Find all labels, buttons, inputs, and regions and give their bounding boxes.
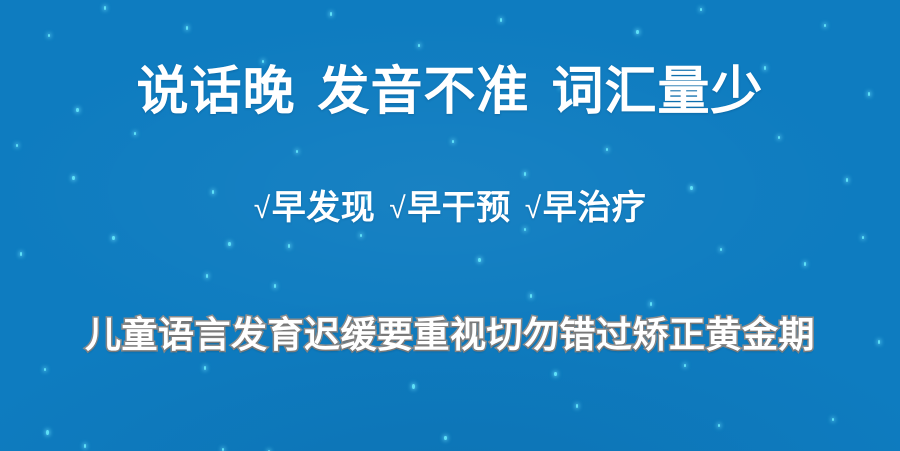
subline-item-2: 早干预 <box>407 189 511 227</box>
check-radical-icon-3: √ <box>525 187 542 231</box>
subline-item-3: 早治疗 <box>543 189 647 227</box>
check-radical-icon-2: √ <box>389 187 406 231</box>
promotional-banner: 说话晚发音不准词汇量少 √早发现√早干预√早治疗 儿童语言发育迟缓要重视切勿错过… <box>0 0 900 451</box>
subline-item-1: 早发现 <box>272 189 376 227</box>
headline-part-2: 发音不准 <box>317 63 529 121</box>
headline-part-1: 说话晚 <box>136 63 295 121</box>
subline: √早发现√早干预√早治疗 <box>0 186 900 232</box>
check-radical-icon-1: √ <box>254 187 271 231</box>
tagline: 儿童语言发育迟缓要重视切勿错过矫正黄金期 <box>0 312 900 358</box>
banner-content: 说话晚发音不准词汇量少 √早发现√早干预√早治疗 儿童语言发育迟缓要重视切勿错过… <box>0 0 900 451</box>
headline-part-3: 词汇量少 <box>552 63 764 121</box>
headline: 说话晚发音不准词汇量少 <box>0 62 900 122</box>
